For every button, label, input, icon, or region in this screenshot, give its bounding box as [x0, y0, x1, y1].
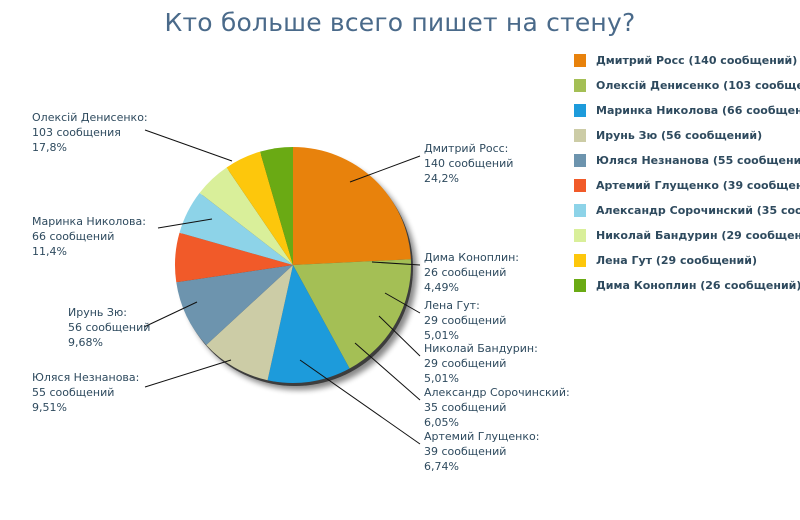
- leader-line: [145, 130, 232, 161]
- callout-name: Лена Гут:: [424, 298, 506, 313]
- callout-count: 103 сообщения: [32, 125, 148, 140]
- legend-swatch: [574, 154, 586, 167]
- callout-name: Юляся Незнанова:: [32, 370, 139, 385]
- legend-item-label: Дима Коноплин (26 сообщений): [596, 279, 800, 292]
- legend-item-label: Артемий Глущенко (39 сообщений): [596, 179, 800, 192]
- callout-count: 29 сообщений: [424, 356, 538, 371]
- legend-swatch: [574, 229, 586, 242]
- chart-legend: Дмитрий Росс (140 сообщений)Олексій Дени…: [574, 48, 800, 298]
- legend-swatch: [574, 54, 586, 67]
- callout-percent: 17,8%: [32, 140, 148, 155]
- legend-swatch: [574, 179, 586, 192]
- legend-item[interactable]: Николай Бандурин (29 сообщений): [574, 223, 800, 248]
- callout-percent: 6,05%: [424, 415, 570, 430]
- legend-item[interactable]: Артемий Глущенко (39 сообщений): [574, 173, 800, 198]
- callout-percent: 24,2%: [424, 171, 513, 186]
- legend-swatch: [574, 279, 586, 292]
- callout-count: 56 сообщений: [68, 320, 150, 335]
- callout-count: 55 сообщений: [32, 385, 139, 400]
- legend-swatch: [574, 104, 586, 117]
- pie-slices: [175, 147, 411, 383]
- callout-percent: 9,51%: [32, 400, 139, 415]
- callout-percent: 6,74%: [424, 459, 539, 474]
- legend-item[interactable]: Маринка Николова (66 сообщений): [574, 98, 800, 123]
- legend-swatch: [574, 129, 586, 142]
- legend-swatch: [574, 254, 586, 267]
- callout-denisenko: Олексій Денисенко: 103 сообщения 17,8%: [32, 110, 148, 155]
- leader-line: [355, 343, 420, 400]
- callout-sorochinsky: Александр Сорочинский: 35 сообщений 6,05…: [424, 385, 570, 430]
- legend-item-label: Ирунь Зю (56 сообщений): [596, 129, 762, 142]
- leader-line: [300, 360, 420, 444]
- callout-glushchenko: Артемий Глущенко: 39 сообщений 6,74%: [424, 429, 539, 474]
- callout-percent: 5,01%: [424, 371, 538, 386]
- callout-neznanova: Юляся Незнанова: 55 сообщений 9,51%: [32, 370, 139, 415]
- legend-item-label: Маринка Николова (66 сообщений): [596, 104, 800, 117]
- callout-nikolova: Маринка Николова: 66 сообщений 11,4%: [32, 214, 146, 259]
- legend-item[interactable]: Ирунь Зю (56 сообщений): [574, 123, 800, 148]
- legend-item-label: Дмитрий Росс (140 сообщений): [596, 54, 797, 67]
- legend-item-label: Лена Гут (29 сообщений): [596, 254, 757, 267]
- callout-name: Александр Сорочинский:: [424, 385, 570, 400]
- legend-item[interactable]: Александр Сорочинский (35 сообщений): [574, 198, 800, 223]
- callout-percent: 4,49%: [424, 280, 519, 295]
- legend-item[interactable]: Дима Коноплин (26 сообщений): [574, 273, 800, 298]
- legend-item-label: Александр Сорочинский (35 сообщений): [596, 204, 800, 217]
- callout-count: 66 сообщений: [32, 229, 146, 244]
- callout-gut: Лена Гут: 29 сообщений 5,01%: [424, 298, 506, 343]
- callout-name: Артемий Глущенко:: [424, 429, 539, 444]
- callout-count: 29 сообщений: [424, 313, 506, 328]
- legend-item-label: Олексій Денисенко (103 сообщения): [596, 79, 800, 92]
- legend-swatch: [574, 79, 586, 92]
- callout-count: 39 сообщений: [424, 444, 539, 459]
- callout-percent: 9,68%: [68, 335, 150, 350]
- legend-item[interactable]: Дмитрий Росс (140 сообщений): [574, 48, 800, 73]
- callout-name: Дмитрий Росс:: [424, 141, 513, 156]
- callout-konoplin: Дима Коноплин: 26 сообщений 4,49%: [424, 250, 519, 295]
- legend-item[interactable]: Лена Гут (29 сообщений): [574, 248, 800, 273]
- callout-name: Ирунь Зю:: [68, 305, 150, 320]
- callout-irun: Ирунь Зю: 56 сообщений 9,68%: [68, 305, 150, 350]
- callout-name: Николай Бандурин:: [424, 341, 538, 356]
- callout-name: Дима Коноплин:: [424, 250, 519, 265]
- callout-count: 26 сообщений: [424, 265, 519, 280]
- callout-name: Маринка Николова:: [32, 214, 146, 229]
- callout-count: 35 сообщений: [424, 400, 570, 415]
- legend-item[interactable]: Юляся Незнанова (55 сообщений): [574, 148, 800, 173]
- legend-item-label: Юляся Незнанова (55 сообщений): [596, 154, 800, 167]
- legend-swatch: [574, 204, 586, 217]
- callout-count: 140 сообщений: [424, 156, 513, 171]
- pie-slice[interactable]: [293, 147, 411, 265]
- callout-percent: 11,4%: [32, 244, 146, 259]
- callout-name: Олексій Денисенко:: [32, 110, 148, 125]
- legend-item-label: Николай Бандурин (29 сообщений): [596, 229, 800, 242]
- legend-item[interactable]: Олексій Денисенко (103 сообщения): [574, 73, 800, 98]
- leader-line: [145, 360, 231, 387]
- callout-bandurin: Николай Бандурин: 29 сообщений 5,01%: [424, 341, 538, 386]
- callout-ross: Дмитрий Росс: 140 сообщений 24,2%: [424, 141, 513, 186]
